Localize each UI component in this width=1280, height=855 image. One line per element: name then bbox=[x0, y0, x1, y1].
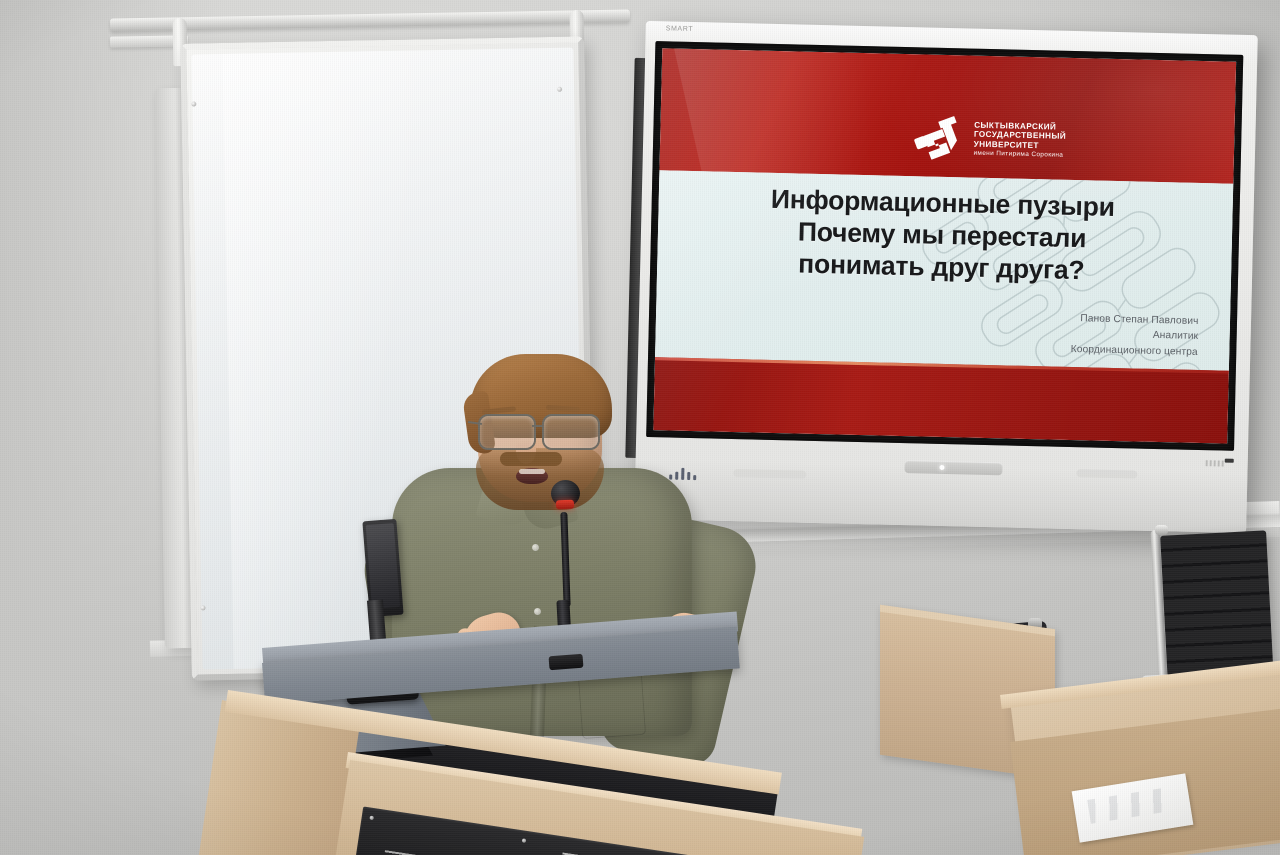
display-sensor-bar bbox=[905, 460, 1003, 475]
shirt-pocket bbox=[578, 672, 646, 739]
shirt-button bbox=[532, 544, 539, 551]
office-chair-frame-cap bbox=[1155, 525, 1168, 535]
author-org: Координационного центра bbox=[1071, 342, 1198, 361]
presenter-teeth bbox=[519, 469, 545, 474]
slide-body-band: Информационные пузыри Почему мы перестал… bbox=[655, 170, 1233, 371]
microphone-base bbox=[549, 654, 584, 671]
logo-line-4: имени Питирима Сорокина bbox=[973, 150, 1065, 160]
display-speaker-right bbox=[1076, 469, 1137, 478]
university-logo-lockup: СЫКТЫВКАРСКИЙ ГОСУДАРСТВЕННЫЙ УНИВЕРСИТЕ… bbox=[912, 115, 1066, 163]
display-port-row[interactable] bbox=[1205, 460, 1223, 466]
smart-brand-label: SMART bbox=[666, 25, 694, 33]
sgu-logo-mark-icon bbox=[912, 115, 965, 160]
presenter-mustache bbox=[500, 452, 562, 466]
display-ir-receiver bbox=[1225, 459, 1234, 463]
glasses-bridge bbox=[532, 425, 544, 427]
vent-screw bbox=[369, 816, 374, 821]
microphone-status-ring bbox=[556, 500, 574, 510]
display-screen[interactable]: СЫКТЫВКАРСКИЙ ГОСУДАРСТВЕННЫЙ УНИВЕРСИТЕ… bbox=[653, 48, 1236, 443]
presentation-slide: СЫКТЫВКАРСКИЙ ГОСУДАРСТВЕННЫЙ УНИВЕРСИТЕ… bbox=[653, 48, 1236, 443]
lecture-hall-photo: SMART СЫ bbox=[0, 0, 1280, 855]
vent-screw bbox=[522, 838, 527, 843]
presenter-glasses bbox=[470, 414, 616, 448]
vent-slots-left bbox=[378, 851, 503, 855]
display-speaker-left bbox=[733, 469, 807, 479]
university-logo-text: СЫКТЫВКАРСКИЙ ГОСУДАРСТВЕННЫЙ УНИВЕРСИТЕ… bbox=[973, 120, 1066, 159]
shirt-button bbox=[534, 608, 541, 615]
slide-bottom-band bbox=[653, 358, 1229, 444]
glasses-lens-left bbox=[478, 414, 536, 450]
confidence-monitor-screen bbox=[366, 523, 400, 609]
display-status-led bbox=[939, 465, 944, 470]
slide-title: Информационные пузыри Почему мы перестал… bbox=[680, 180, 1204, 288]
slide-author-block: Панов Степан Павлович Аналитик Координац… bbox=[1071, 311, 1199, 361]
glasses-lens-right bbox=[542, 414, 600, 450]
display-panel-frame: СЫКТЫВКАРСКИЙ ГОСУДАРСТВЕННЫЙ УНИВЕРСИТЕ… bbox=[646, 41, 1243, 451]
desk-ventilation-panel bbox=[350, 806, 711, 855]
